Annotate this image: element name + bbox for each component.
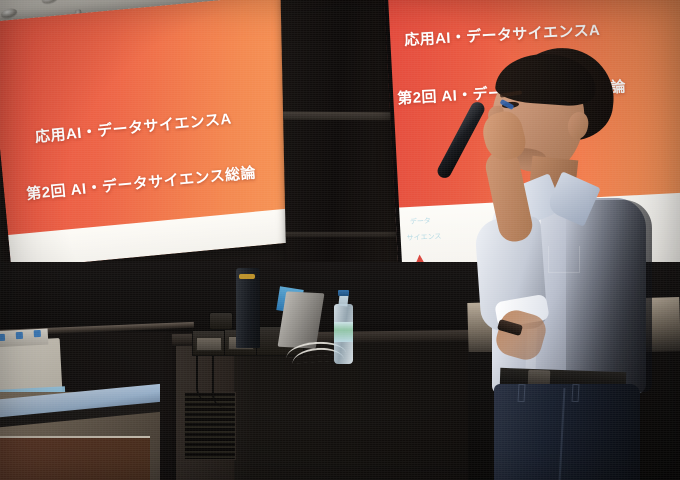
receiver-display: [196, 337, 222, 351]
lectern-vent-grille-icon: [184, 392, 236, 460]
slide-footer-note-2: サイエンス: [406, 231, 441, 243]
pier-seam: [286, 232, 404, 237]
lecture-hall-photo: 応用AI・データサイエンスA 第2回 AI・データサイエンス総論 応用AI・デー…: [0, 0, 680, 480]
presenter-shirt-shadow: [566, 200, 652, 392]
jeans-belt-loop: [518, 384, 526, 402]
shirt-pocket: [548, 246, 580, 273]
front-desk: [0, 392, 160, 480]
desk-front-panel: [0, 436, 150, 480]
whiteboard-clip-icon: [34, 330, 41, 337]
left-projection-screen: 応用AI・データサイエンスA 第2回 AI・データサイエンス総論: [0, 0, 322, 269]
presenter-jeans: [494, 384, 640, 480]
whiteboard-tray: [0, 329, 48, 348]
jeans-belt-loop: [572, 384, 580, 402]
microphone-charger-stand: [236, 268, 260, 348]
wireless-receiver-left: [192, 330, 226, 356]
ceiling-spotlight-icon: [0, 7, 17, 19]
power-adapter: [209, 312, 233, 330]
water-bottle: [333, 290, 354, 364]
whiteboard-clip-icon: [16, 332, 23, 339]
bottle-label: [334, 322, 353, 342]
bottle-cap: [338, 290, 349, 296]
ceiling-spotlight-icon: [41, 0, 58, 4]
presenter: [456, 40, 672, 480]
whiteboard-clip-icon: [0, 334, 5, 341]
slide-footer-note-1: データ: [410, 216, 431, 227]
pier-seam: [283, 112, 401, 121]
